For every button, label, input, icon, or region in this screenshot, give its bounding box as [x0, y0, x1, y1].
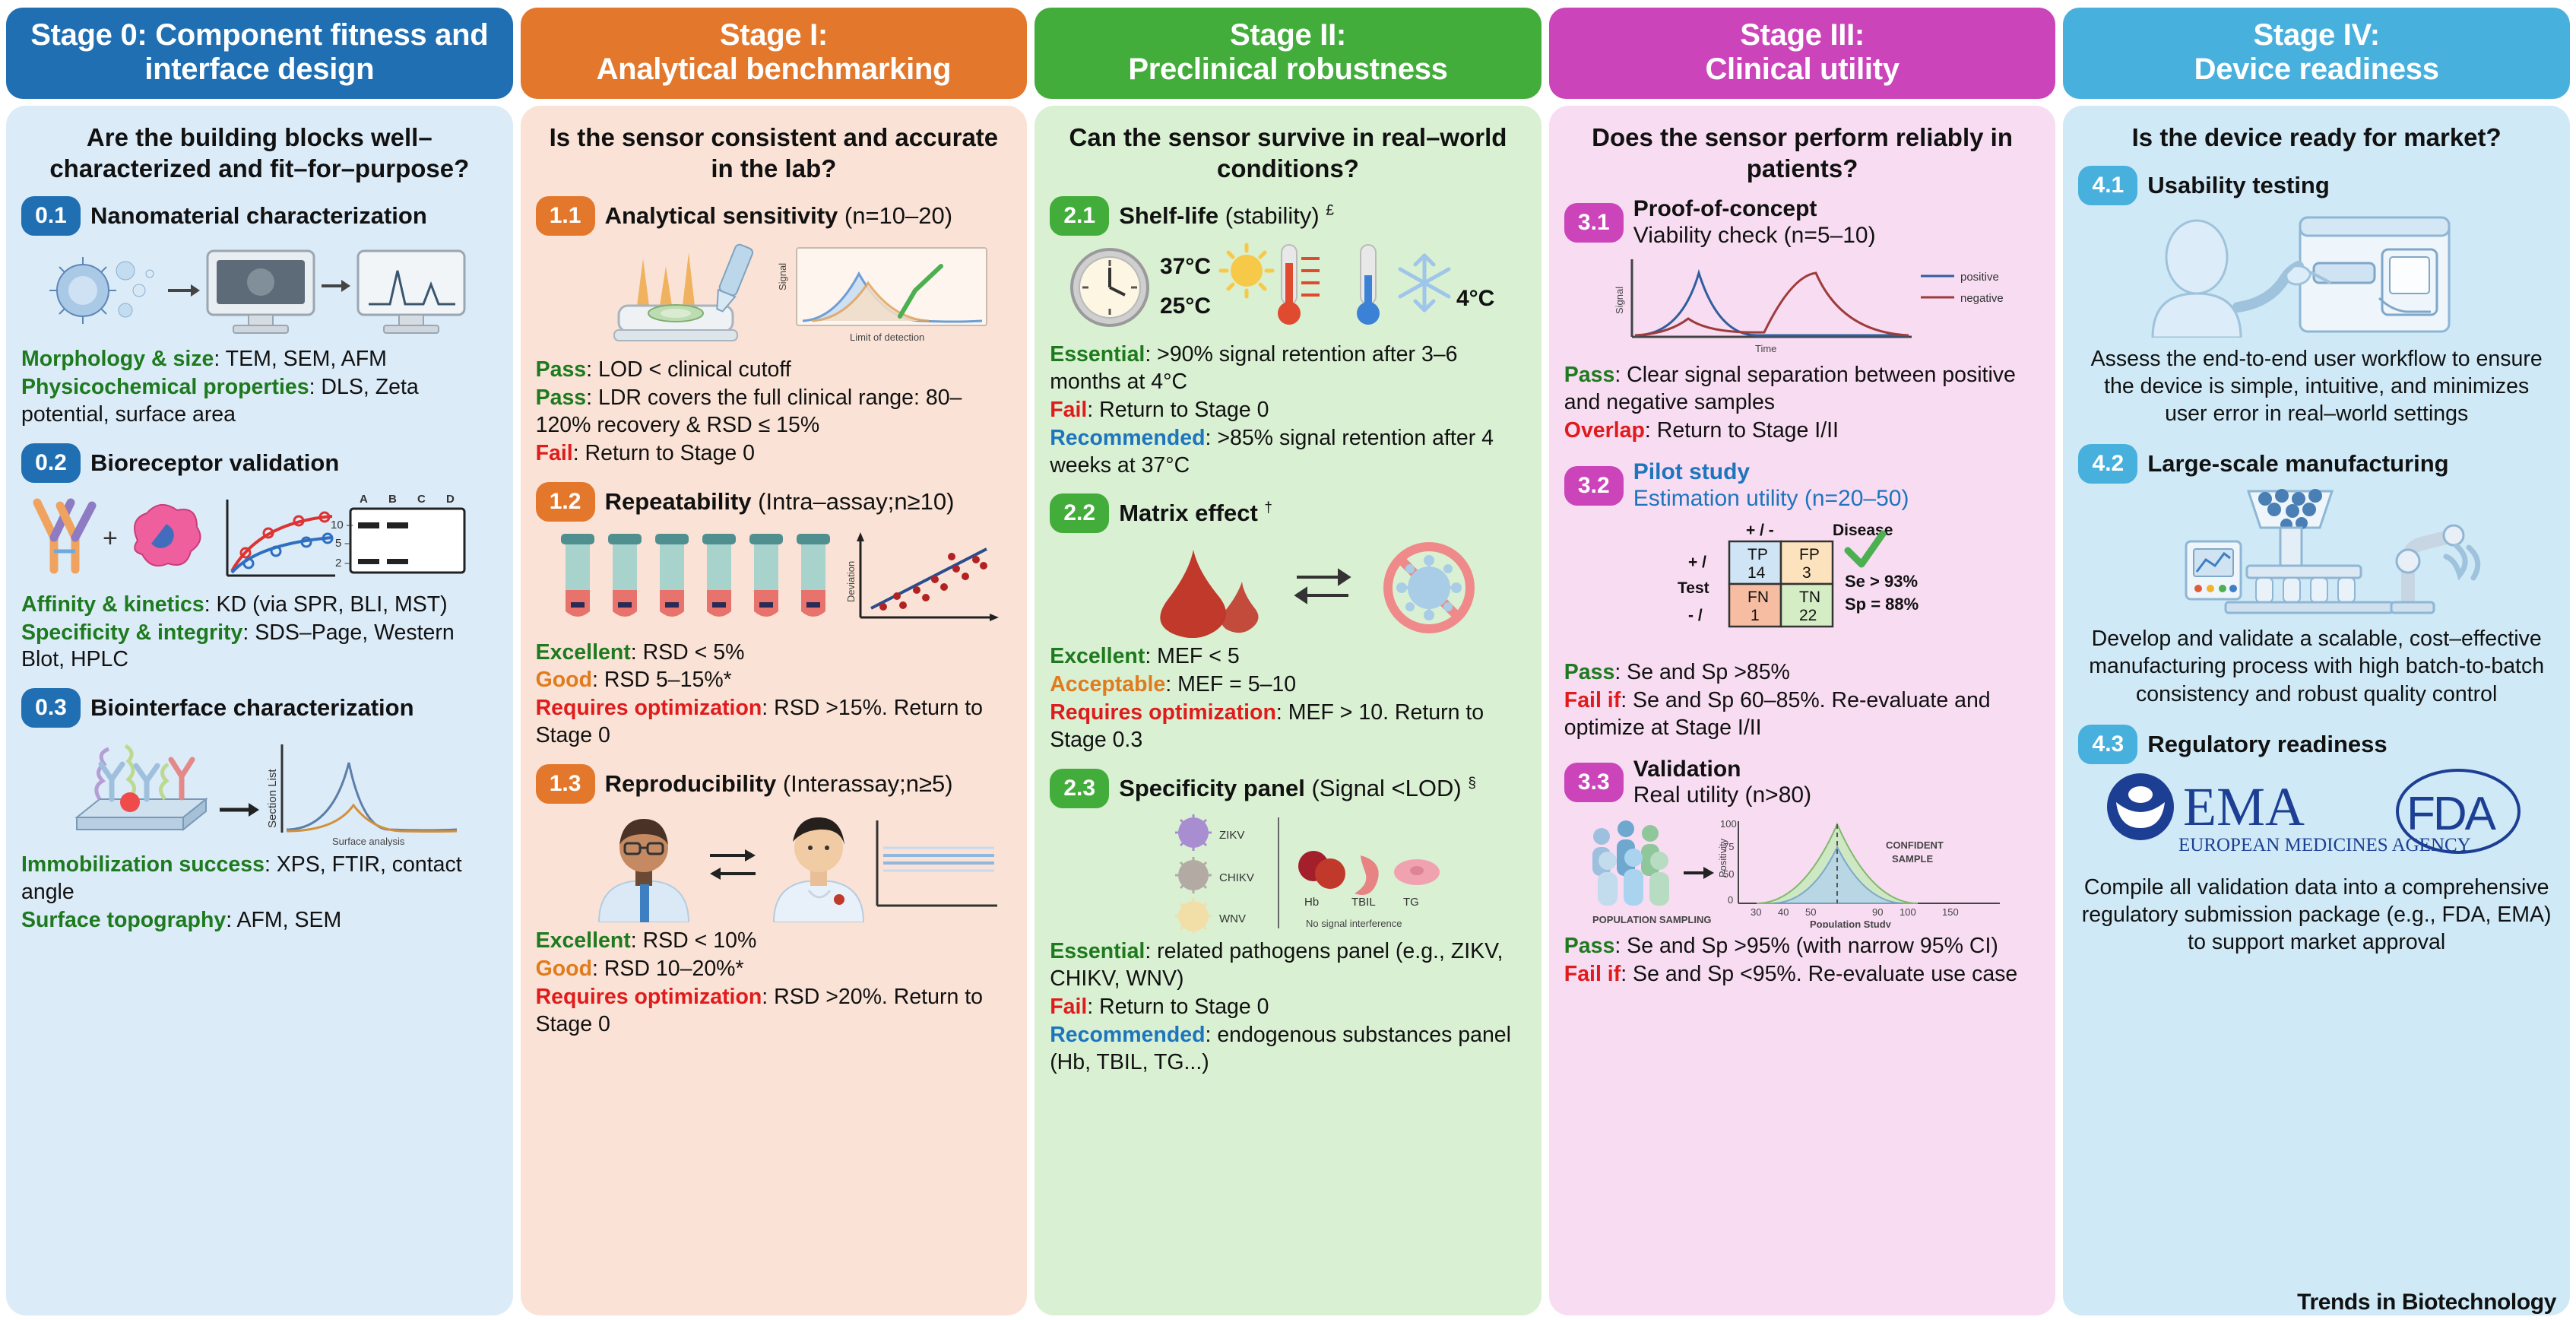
criteria-key: Recommended: [1050, 426, 1205, 450]
ytick-0: 0: [1728, 894, 1733, 906]
analyte-label-tg: TG: [1403, 896, 1419, 909]
criteria-value: : Return to Stage 0: [1087, 995, 1269, 1019]
criteria-value: : Se and Sp <95%. Re-evaluate use case: [1621, 962, 2017, 986]
item-head-4-3: 4.3 Regulatory readiness: [2078, 725, 2555, 764]
criteria-0-3: Immobilization success: XPS, FTIR, conta…: [21, 852, 498, 934]
xtick-30: 30: [1751, 906, 1761, 918]
matrix-axis-label-test: Test: [1678, 579, 1709, 597]
item-title-strong: Bioreceptor validation: [90, 449, 339, 476]
xtick-90: 90: [1872, 906, 1883, 918]
criteria-value: : RSD 10–20%*: [592, 957, 744, 981]
art-usability-testing: [2078, 210, 2555, 338]
item-head-0-2: 0.2 Bioreceptor validation: [21, 443, 498, 483]
stage-header-2: Stage II: Preclinical robustness: [1035, 8, 1541, 99]
art-caption-no-signal-interference: No signal interference: [1306, 918, 1402, 929]
ema-logo-icon: [2107, 773, 2174, 840]
item-0-1: 0.1 Nanomaterial characterization: [21, 196, 498, 439]
matrix-cell-value-tp: 14: [1747, 564, 1766, 582]
xtick-50: 50: [1805, 906, 1816, 918]
scientist-1: [599, 819, 689, 922]
criteria-value: : Se and Sp >85%: [1614, 660, 1790, 684]
criteria-key: Excellent: [536, 928, 631, 953]
criteria-value: : RSD 5–15%*: [592, 668, 732, 692]
art-matrix-effect: [1050, 538, 1526, 638]
criteria-key: Fail if: [1564, 688, 1621, 712]
stage-body-3: Does the sensor perform reliably in pati…: [1549, 106, 2056, 1315]
stage-header-line1: Stage II:: [1041, 18, 1535, 52]
criteria-key: Good: [536, 957, 592, 981]
item-2-2: 2.2 Matrix effect †: [1050, 493, 1526, 764]
criteria-value: : MEF = 5–10: [1165, 672, 1296, 696]
item-title-3-2: Pilot study Estimation utility (n=20–50): [1633, 459, 1909, 512]
criteria-value: : TEM, SEM, AFM: [214, 347, 387, 371]
criteria-key: Specificity & integrity: [21, 620, 242, 645]
matrix-annotation-se: Se > 93%: [1845, 572, 1918, 591]
item-badge-1-3: 1.3: [536, 764, 595, 804]
criteria-key: Overlap: [1564, 418, 1645, 443]
criteria-key: Requires optimization: [1050, 700, 1276, 725]
svg-text:D: D: [446, 493, 455, 506]
item-title-light: (Interassay;n≥5): [776, 770, 952, 797]
item-title-strong: Large-scale manufacturing: [2147, 450, 2448, 477]
art-shelf-life: 37°C 25°C: [1050, 240, 1526, 336]
axis-label-signal: Signal: [1614, 287, 1625, 314]
art-specificity-panel: ZIKV CHIKV: [1050, 813, 1526, 933]
item-title-4-3: Regulatory readiness: [2147, 731, 2387, 758]
art-bioreceptor-validation: + A B: [21, 487, 498, 586]
item-title-1-1: Analytical sensitivity (n=10–20): [605, 202, 953, 230]
scientist-2: [774, 817, 863, 922]
temp-4: 4°C: [1456, 286, 1494, 311]
item-1-1: 1.1 Analytical sensitivity (n=10–20): [536, 196, 1012, 478]
matrix-cell-label-fp: FP: [1799, 546, 1820, 563]
criteria-key: Immobilization success: [21, 852, 265, 877]
svg-text:B: B: [388, 493, 397, 506]
fda-logo-icon: FDA: [2397, 770, 2519, 852]
criteria-key: Pass: [1564, 363, 1615, 387]
criteria-1-2: Excellent: RSD < 5% Good: RSD 5–15%* Req…: [536, 639, 1012, 750]
criteria-value: : LOD < clinical cutoff: [586, 357, 791, 382]
paragraph-4-2: Develop and validate a scalable, cost–ef…: [2081, 625, 2552, 708]
virus-label-chikv: CHIKV: [1219, 871, 1254, 884]
art-manufacturing-line: [2078, 488, 2555, 617]
svg-text:10 –: 10 –: [331, 519, 353, 531]
ytick-75: 75: [1723, 841, 1734, 852]
criteria-value: : MEF < 5: [1145, 644, 1239, 668]
svg-text:+: +: [103, 524, 118, 553]
item-title-strong: Regulatory readiness: [2147, 731, 2387, 757]
item-badge-3-1: 3.1: [1564, 203, 1624, 243]
stage-header-line2: interface design: [12, 52, 507, 87]
item-title-0-2: Bioreceptor validation: [90, 449, 339, 477]
art-caption-deviation: Deviation: [845, 560, 857, 601]
matrix-cell-label-fn: FN: [1747, 589, 1769, 606]
item-title-strong: Proof-of-concept: [1633, 196, 1817, 221]
criteria-value: : Return to Stage 0: [573, 441, 755, 465]
item-badge-1-2: 1.2: [536, 482, 595, 522]
criteria-key: Excellent: [1050, 644, 1145, 668]
stage-header-line1: Stage IV:: [2069, 18, 2564, 52]
stage-body-0: Are the building blocks well–characteriz…: [6, 106, 513, 1315]
criteria-key: Pass: [1564, 934, 1615, 958]
pipeline-diagram: Stage 0: Component fitness and interface…: [0, 0, 2576, 1320]
criteria-value: : AFM, SEM: [226, 908, 341, 932]
item-head-4-1: 4.1 Usability testing: [2078, 166, 2555, 205]
stage-header-1: Stage I: Analytical benchmarking: [521, 8, 1028, 99]
item-title-strong: Matrix effect: [1119, 500, 1258, 526]
art-caption-limit-of-detection: Limit of detection: [850, 332, 924, 343]
art-repeatability: Deviation: [536, 526, 1012, 634]
ytick-100: 100: [1720, 818, 1737, 830]
item-head-2-2: 2.2 Matrix effect †: [1050, 493, 1526, 533]
item-title-light: Real utility (n>80): [1633, 782, 1811, 808]
population-icon: [1592, 820, 1669, 906]
stage-body-4: Is the device ready for market? 4.1 Usab…: [2063, 106, 2570, 1315]
item-head-0-3: 0.3 Biointerface characterization: [21, 688, 498, 728]
item-badge-2-2: 2.2: [1050, 493, 1109, 533]
item-4-1: 4.1 Usability testing: [2078, 166, 2555, 440]
criteria-3-2: Pass: Se and Sp >85% Fail if: Se and Sp …: [1564, 659, 2041, 742]
item-title-light: (Signal <LOD): [1305, 775, 1462, 801]
criteria-2-2: Excellent: MEF < 5 Acceptable: MEF = 5–1…: [1050, 643, 1526, 754]
criteria-key: Fail: [536, 441, 573, 465]
item-title-light: (Intra–assay;n≥10): [752, 488, 955, 515]
stage-header-line1: Stage I:: [527, 18, 1022, 52]
virus-label-wnv: WNV: [1219, 912, 1246, 925]
item-0-2: 0.2 Bioreceptor validation +: [21, 443, 498, 684]
stage-column-1: Stage I: Analytical benchmarking Is the …: [521, 8, 1028, 1315]
item-3-3: 3.3 Validation Real utility (n>80): [1564, 757, 2041, 998]
item-title-1-2: Repeatability (Intra–assay;n≥10): [605, 488, 955, 516]
item-badge-0-1: 0.1: [21, 196, 81, 236]
art-annotation-confident: CONFIDENT: [1886, 839, 1944, 851]
item-1-2: 1.2 Repeatability (Intra–assay;n≥10): [536, 482, 1012, 760]
item-title-4-1: Usability testing: [2147, 172, 2329, 199]
item-title-light: (stability): [1218, 202, 1320, 229]
art-reproducibility: [536, 808, 1012, 922]
stage-header-line2: Analytical benchmarking: [527, 52, 1022, 87]
paragraph-4-1: Assess the end-to-end user workflow to e…: [2081, 345, 2552, 428]
criteria-3-3: Pass: Se and Sp >95% (with narrow 95% CI…: [1564, 933, 2041, 988]
stage-body-2: Can the sensor survive in real–world con…: [1035, 106, 1541, 1315]
criteria-2-1: Essential: >90% signal retention after 3…: [1050, 341, 1526, 480]
xtick-100: 100: [1900, 906, 1916, 918]
item-title-4-2: Large-scale manufacturing: [2147, 450, 2448, 478]
art-validation-population: POPULATION SAMPLING Positivity 100 75 50…: [1564, 814, 2041, 928]
journal-credit: Trends in Biotechnology: [2297, 1290, 2556, 1315]
matrix-row-header-neg: - /: [1688, 607, 1703, 624]
item-head-1-3: 1.3 Reproducibility (Interassay;n≥5): [536, 764, 1012, 804]
xtick-150: 150: [1942, 906, 1959, 918]
virus-wnv: WNV: [1175, 898, 1246, 933]
criteria-0-2: Affinity & kinetics: KD (via SPR, BLI, M…: [21, 592, 498, 674]
art-caption-signal: Signal: [777, 263, 788, 290]
svg-text:C: C: [417, 493, 426, 506]
criteria-key: Morphology & size: [21, 347, 214, 371]
stage-body-1: Is the sensor consistent and accurate in…: [521, 106, 1028, 1315]
item-badge-3-3: 3.3: [1564, 763, 1624, 802]
stage-question-4: Is the device ready for market?: [2078, 122, 2555, 153]
art-biointerface-characterization: Section List Surface analysis: [21, 732, 498, 846]
fda-wordmark: FDA: [2406, 788, 2497, 840]
item-title-2-3: Specificity panel (Signal <LOD) §: [1119, 775, 1476, 802]
item-badge-0-2: 0.2: [21, 443, 81, 483]
item-head-3-1: 3.1 Proof-of-concept Viability check (n=…: [1564, 196, 2041, 249]
art-nanomaterial-characterization: [21, 240, 498, 341]
criteria-0-1: Morphology & size: TEM, SEM, AFM Physico…: [21, 346, 498, 429]
stage-header-line2: Device readiness: [2069, 52, 2564, 87]
item-title-0-3: Biointerface characterization: [90, 694, 414, 722]
item-head-3-2: 3.2 Pilot study Estimation utility (n=20…: [1564, 459, 2041, 512]
criteria-key: Physicochemical properties: [21, 375, 309, 399]
item-3-2: 3.2 Pilot study Estimation utility (n=20…: [1564, 459, 2041, 751]
item-2-1: 2.1 Shelf-life (stability) £ 37°C: [1050, 196, 1526, 490]
criteria-key: Essential: [1050, 342, 1145, 366]
item-1-3: 1.3 Reproducibility (Interassay;n≥5): [536, 764, 1012, 1049]
criteria-key: Good: [536, 668, 592, 692]
item-head-3-3: 3.3 Validation Real utility (n>80): [1564, 757, 2041, 810]
item-title-strong: Usability testing: [2147, 172, 2329, 198]
criteria-key: Requires optimization: [536, 696, 762, 720]
item-title-strong: Validation: [1633, 757, 1741, 782]
stage-question-2: Can the sensor survive in real–world con…: [1050, 122, 1526, 184]
item-title-strong: Pilot study: [1633, 459, 1750, 484]
item-head-2-3: 2.3 Specificity panel (Signal <LOD) §: [1050, 769, 1526, 808]
art-proof-of-concept: Signal positive negative Time: [1564, 253, 2041, 357]
criteria-key: Affinity & kinetics: [21, 592, 204, 617]
item-title-strong: Biointerface characterization: [90, 694, 414, 721]
criteria-key: Excellent: [536, 640, 631, 665]
virus-zikv: ZIKV: [1175, 814, 1244, 851]
item-badge-4-2: 4.2: [2078, 444, 2137, 484]
item-title-superscript: §: [1468, 776, 1476, 792]
item-head-0-1: 0.1 Nanomaterial characterization: [21, 196, 498, 236]
criteria-value: : Return to Stage I/II: [1645, 418, 1839, 443]
item-head-2-1: 2.1 Shelf-life (stability) £: [1050, 196, 1526, 236]
art-confusion-matrix: + / - Disease + / Test - / TP 14 FP 3 FN: [1564, 517, 2041, 654]
axis-label-population-study: Population Study: [1810, 919, 1892, 928]
art-annotation-sample: SAMPLE: [1892, 853, 1934, 865]
stage-header-line1: Stage III:: [1555, 18, 2050, 52]
criteria-key: Pass: [536, 386, 587, 410]
criteria-value: : RSD < 5%: [631, 640, 745, 665]
matrix-cell-value-tn: 22: [1799, 607, 1817, 624]
matrix-col-header: + / -: [1746, 522, 1774, 539]
matrix-annotation-sp: Sp = 88%: [1845, 595, 1919, 614]
criteria-value: : KD (via SPR, BLI, MST): [204, 592, 448, 617]
stage-question-1: Is the sensor consistent and accurate in…: [536, 122, 1012, 184]
item-title-strong: Analytical sensitivity: [605, 202, 838, 229]
criteria-key: Recommended: [1050, 1023, 1205, 1047]
item-0-3: 0.3 Biointerface characterization: [21, 688, 498, 944]
stage-column-3: Stage III: Clinical utility Does the sen…: [1549, 8, 2056, 1315]
item-head-1-1: 1.1 Analytical sensitivity (n=10–20): [536, 196, 1012, 236]
item-title-superscript: †: [1264, 500, 1272, 516]
axis-label-time: Time: [1755, 343, 1776, 354]
item-4-2: 4.2 Large-scale manufacturing: [2078, 444, 2555, 720]
matrix-cell-value-fn: 1: [1751, 607, 1760, 624]
temp-37: 37°C: [1160, 254, 1211, 279]
criteria-1-1: Pass: LOD < clinical cutoff Pass: LDR co…: [536, 357, 1012, 468]
analyte-label-hb: Hb: [1304, 896, 1319, 909]
art-caption-population-sampling: POPULATION SAMPLING: [1592, 914, 1711, 925]
item-title-0-1: Nanomaterial characterization: [90, 202, 427, 230]
item-title-superscript: £: [1326, 203, 1334, 219]
item-head-1-2: 1.2 Repeatability (Intra–assay;n≥10): [536, 482, 1012, 522]
art-analytical-sensitivity: Signal Limit of detection: [536, 240, 1012, 351]
criteria-key: Requires optimization: [536, 985, 762, 1009]
item-title-2-1: Shelf-life (stability) £: [1119, 202, 1334, 230]
criteria-key: Essential: [1050, 939, 1145, 963]
item-4-3: 4.3 Regulatory readiness EMA EUROPEAN ME…: [2078, 725, 2555, 969]
criteria-2-3: Essential: related pathogens panel (e.g.…: [1050, 938, 1526, 1077]
criteria-value: : Se and Sp 60–85%. Re-evaluate and opti…: [1564, 688, 1991, 740]
criteria-key: Pass: [1564, 660, 1615, 684]
stage-header-0: Stage 0: Component fitness and interface…: [6, 8, 513, 99]
stage-header-line2: Clinical utility: [1555, 52, 2050, 87]
criteria-1-3: Excellent: RSD < 10% Good: RSD 10–20%* R…: [536, 928, 1012, 1039]
svg-text:5 –: 5 –: [335, 537, 352, 550]
legend-label-negative: negative: [1960, 292, 2004, 305]
item-title-light: (n=10–20): [838, 202, 952, 229]
item-title-3-3: Validation Real utility (n>80): [1633, 757, 1811, 810]
item-title-light: Estimation utility (n=20–50): [1633, 486, 1909, 511]
item-badge-2-1: 2.1: [1050, 196, 1109, 236]
stage-header-3: Stage III: Clinical utility: [1549, 8, 2056, 99]
virus-chikv: CHIKV: [1175, 857, 1254, 893]
criteria-3-1: Pass: Clear signal separation between po…: [1564, 362, 2041, 445]
matrix-cell-label-tp: TP: [1747, 546, 1768, 563]
svg-text:A: A: [360, 493, 368, 506]
item-badge-1-1: 1.1: [536, 196, 595, 236]
criteria-value: : Clear signal separation between positi…: [1564, 363, 2016, 414]
item-title-2-2: Matrix effect †: [1119, 500, 1272, 527]
item-badge-0-3: 0.3: [21, 688, 81, 728]
item-head-4-2: 4.2 Large-scale manufacturing: [2078, 444, 2555, 484]
item-title-strong: Shelf-life: [1119, 202, 1218, 229]
criteria-value: : LDR covers the full clinical range: 80…: [536, 386, 962, 437]
stage-column-4: Stage IV: Device readiness Is the device…: [2063, 8, 2570, 1315]
temp-25: 25°C: [1160, 294, 1211, 319]
stage-header-4: Stage IV: Device readiness: [2063, 8, 2570, 99]
item-badge-2-3: 2.3: [1050, 769, 1109, 808]
item-2-3: 2.3 Specificity panel (Signal <LOD) §: [1050, 769, 1526, 1087]
criteria-key: Fail: [1050, 995, 1087, 1019]
item-title-1-3: Reproducibility (Interassay;n≥5): [605, 770, 953, 798]
ytick-50: 50: [1723, 868, 1734, 880]
stage-header-line1: Stage 0: Component fitness and: [12, 18, 507, 52]
item-title-strong: Specificity panel: [1119, 775, 1305, 801]
criteria-value: : Return to Stage 0: [1087, 398, 1269, 422]
analyte-label-tbil: TBIL: [1351, 896, 1376, 909]
item-title-strong: Nanomaterial characterization: [90, 202, 427, 229]
stage-column-0: Stage 0: Component fitness and interface…: [6, 8, 513, 1315]
item-badge-3-2: 3.2: [1564, 466, 1624, 506]
criteria-key: Fail if: [1564, 962, 1621, 986]
stage-question-3: Does the sensor perform reliably in pati…: [1564, 122, 2041, 184]
art-regulatory-logos: EMA EUROPEAN MEDICINES AGENCY FDA: [2078, 769, 2555, 866]
item-badge-4-3: 4.3: [2078, 725, 2137, 764]
virus-label-zikv: ZIKV: [1219, 829, 1244, 842]
criteria-value: : Se and Sp >95% (with narrow 95% CI): [1614, 934, 1998, 958]
item-badge-4-1: 4.1: [2078, 166, 2137, 205]
art-caption-section-list: Section List: [266, 769, 279, 828]
criteria-key: Pass: [536, 357, 587, 382]
stage-header-line2: Preclinical robustness: [1041, 52, 1535, 87]
stage-column-2: Stage II: Preclinical robustness Can the…: [1035, 8, 1541, 1315]
xtick-40: 40: [1778, 906, 1789, 918]
criteria-key: Acceptable: [1050, 672, 1165, 696]
criteria-key: Surface topography: [21, 908, 226, 932]
legend-label-positive: positive: [1960, 271, 1999, 284]
criteria-key: Fail: [1050, 398, 1087, 422]
item-title-strong: Reproducibility: [605, 770, 777, 797]
svg-text:2 –: 2 –: [335, 557, 352, 570]
matrix-cell-label-tn: TN: [1799, 589, 1820, 606]
item-title-strong: Repeatability: [605, 488, 752, 515]
stage-question-0: Are the building blocks well–characteriz…: [21, 122, 498, 184]
art-caption-surface-analysis: Surface analysis: [332, 836, 405, 846]
ema-wordmark: EMA: [2183, 776, 2305, 837]
item-3-1: 3.1 Proof-of-concept Viability check (n=…: [1564, 196, 2041, 455]
paragraph-4-3: Compile all validation data into a compr…: [2081, 874, 2552, 957]
matrix-cell-value-fp: 3: [1802, 564, 1811, 582]
criteria-value: : RSD < 10%: [631, 928, 757, 953]
matrix-row-header-pos: + /: [1688, 554, 1706, 571]
item-title-light: Viability check (n=5–10): [1633, 223, 1876, 248]
item-title-3-1: Proof-of-concept Viability check (n=5–10…: [1633, 196, 1876, 249]
